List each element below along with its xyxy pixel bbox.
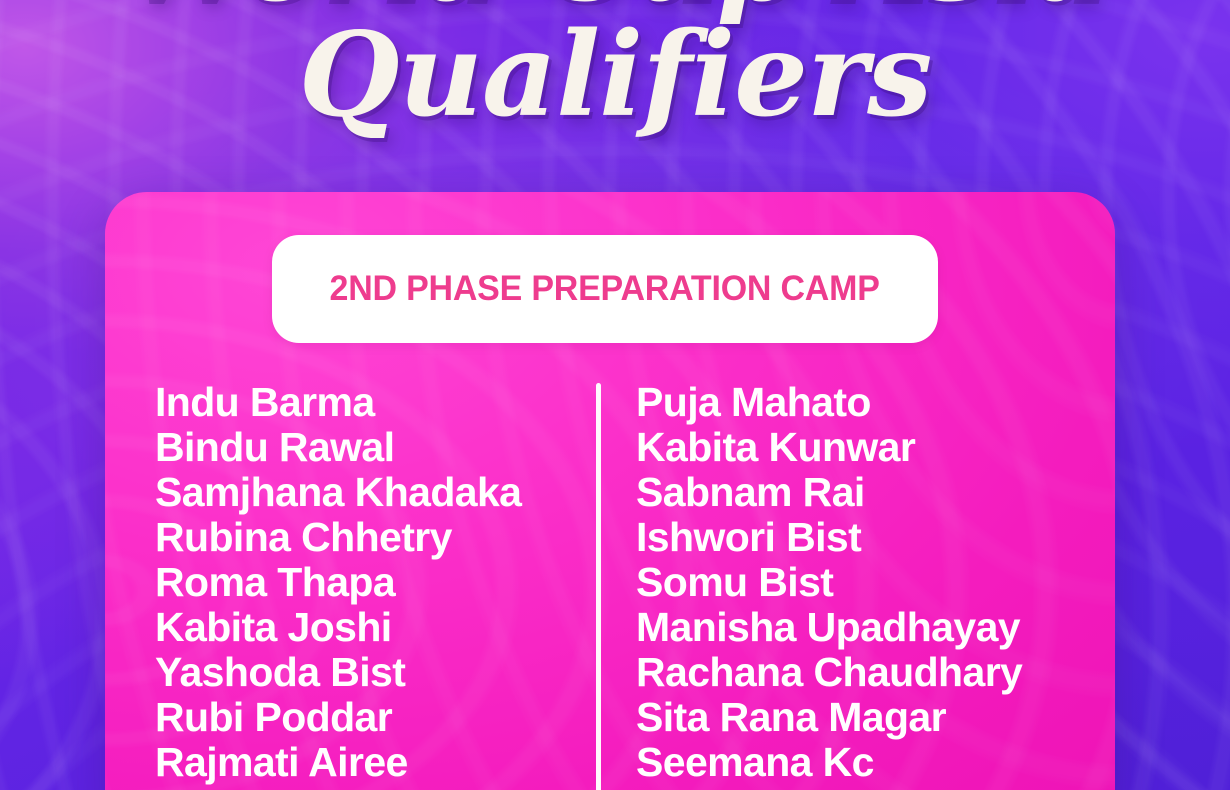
roster-card: 2ND PHASE PREPARATION CAMP Indu BarmaBin…: [105, 192, 1115, 790]
roster-name: Somu Bist: [636, 560, 1071, 605]
roster-name: Kabita Joshi: [155, 605, 591, 650]
roster-name: Sita Rana Magar: [636, 695, 1071, 740]
roster-name: Rajmati Airee: [155, 740, 591, 785]
roster-name: Kabita Kunwar: [636, 425, 1071, 470]
roster-name: Puja Mahato: [636, 380, 1071, 425]
roster-name: Seemana Kc: [636, 740, 1071, 785]
roster-name: Samjhana Khadaka: [155, 470, 591, 515]
roster-name: Rubi Poddar: [155, 695, 591, 740]
roster-column-left: Indu BarmaBindu RawalSamjhana KhadakaRub…: [105, 380, 591, 785]
phase-badge: 2ND PHASE PREPARATION CAMP: [272, 235, 938, 343]
roster-name: Yashoda Bist: [155, 650, 591, 695]
roster-name: Rachana Chaudhary: [636, 650, 1071, 695]
roster-column-right: Puja MahatoKabita KunwarSabnam RaiIshwor…: [591, 380, 1071, 785]
poster-canvas: World Cup Asia Qualifiers 2ND PHASE PREP…: [0, 0, 1230, 790]
roster-name: Ishwori Bist: [636, 515, 1071, 560]
roster-name: Roma Thapa: [155, 560, 591, 605]
roster-name: Indu Barma: [155, 380, 591, 425]
phase-badge-label: 2ND PHASE PREPARATION CAMP: [330, 269, 880, 309]
roster-name: Sabnam Rai: [636, 470, 1071, 515]
roster-name: Manisha Upadhayay: [636, 605, 1071, 650]
roster-name: Rubina Chhetry: [155, 515, 591, 560]
roster-name: Bindu Rawal: [155, 425, 591, 470]
roster-list: Indu BarmaBindu RawalSamjhana KhadakaRub…: [105, 380, 1115, 785]
